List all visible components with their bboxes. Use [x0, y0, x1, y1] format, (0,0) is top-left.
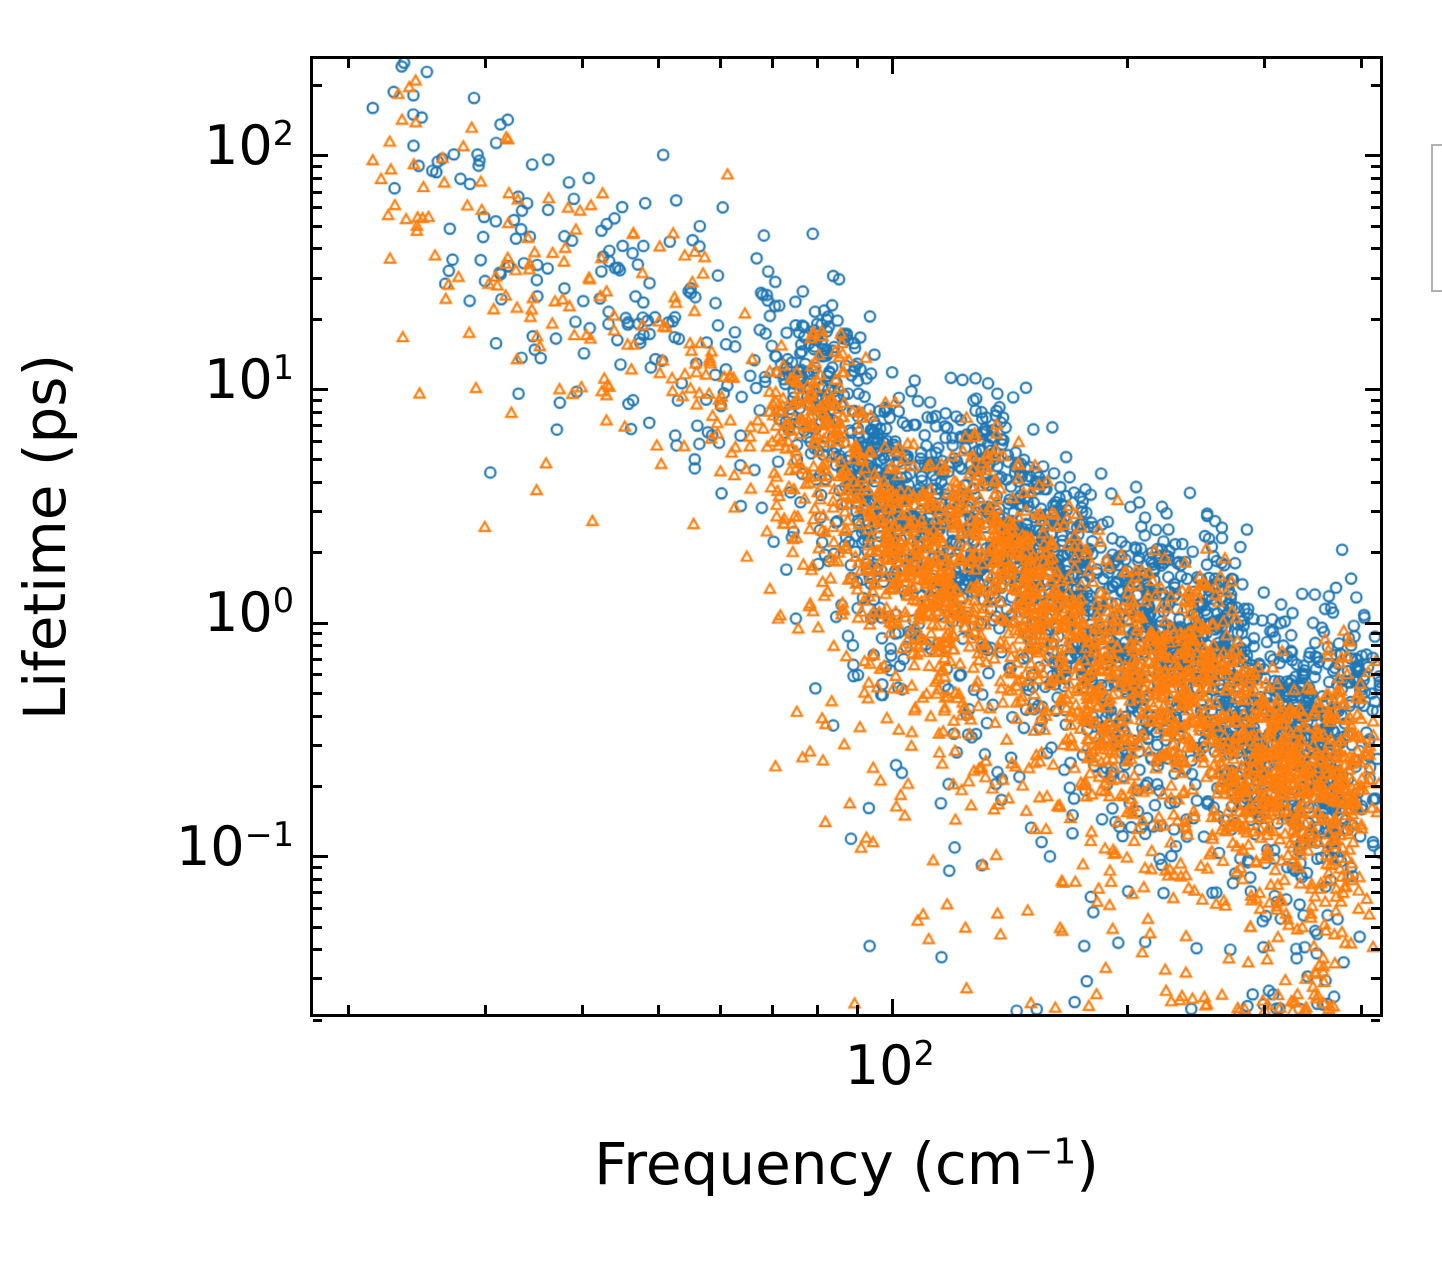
x-tick-top-50 [657, 59, 660, 68]
y-tick-right-0.2 [1371, 785, 1380, 788]
x-tick-top-70 [771, 59, 774, 68]
scatter-plot-canvas [313, 59, 1380, 1014]
x-tick-400 [1360, 1005, 1363, 1014]
y-tick-0.07 [313, 891, 322, 894]
y-tick-right-0.05 [1371, 926, 1380, 929]
x-tick-top-90 [856, 59, 859, 68]
y-tick-80 [313, 177, 322, 180]
x-tick-60 [719, 1005, 722, 1014]
y-tick-8 [313, 411, 322, 414]
plot-axes: 300K 500K [310, 56, 1383, 1017]
y-tick-right-0.6000000000000001 [1371, 673, 1380, 676]
y-tick-0.09 [313, 866, 322, 869]
y-tick-right-1 [1365, 622, 1380, 625]
x-tick-300 [1263, 1005, 1266, 1014]
x-tick-top-60 [719, 59, 722, 68]
y-tick-0.4 [313, 715, 322, 718]
x-tick-100 [891, 999, 894, 1014]
y-tick-label-1: 100 [204, 586, 294, 640]
y-tick-right-20 [1371, 318, 1380, 321]
figure: Lifetime (ps) 10−1100101102 300K [0, 0, 1442, 1265]
y-tick-9 [313, 399, 322, 402]
y-axis-label: Lifetime (ps) [11, 353, 79, 719]
triangle-open-icon [1433, 239, 1442, 269]
y-tick-right-6 [1371, 440, 1380, 443]
y-tick-right-200 [1371, 84, 1380, 87]
legend[interactable]: 300K 500K [1431, 144, 1442, 292]
x-tick-top-400 [1360, 59, 1363, 68]
y-tick-right-30 [1371, 277, 1380, 280]
y-tick-right-0.7000000000000001 [1371, 658, 1380, 661]
y-tick-right-10 [1365, 388, 1380, 391]
y-tick-right-9 [1371, 399, 1380, 402]
y-tick-0.6000000000000001 [313, 673, 322, 676]
y-tick-2 [313, 551, 322, 554]
x-tick-90 [856, 1005, 859, 1014]
x-tick-top-200 [1126, 59, 1129, 68]
y-tick-right-0.04 [1371, 948, 1380, 951]
legend-item-500k[interactable]: 500K [1433, 220, 1442, 288]
y-tick-right-0.09 [1371, 866, 1380, 869]
y-tick-40 [313, 247, 322, 250]
y-tick-0.7000000000000001 [313, 658, 322, 661]
y-tick-right-0.4 [1371, 715, 1380, 718]
x-tick-label-100: 102 [845, 1039, 935, 1093]
y-tick-right-7 [1371, 424, 1380, 427]
y-tick-label-0.1: 10−1 [176, 820, 294, 874]
x-tick-top-100 [891, 59, 894, 74]
y-tick-0.05 [313, 926, 322, 929]
y-tick-right-5 [1371, 458, 1380, 461]
y-tick-0.9 [313, 632, 322, 635]
x-tick-top-80 [816, 59, 819, 68]
y-tick-right-4 [1371, 481, 1380, 484]
y-tick-right-80 [1371, 177, 1380, 180]
y-tick-3 [313, 510, 322, 513]
x-tick-200 [1126, 1005, 1129, 1014]
y-tick-1 [313, 622, 328, 625]
y-tick-20 [313, 318, 322, 321]
y-tick-right-0.9 [1371, 632, 1380, 635]
x-axis-label: Frequency (cm−1) [310, 1130, 1383, 1198]
y-tick-70 [313, 191, 322, 194]
y-tick-200 [313, 84, 322, 87]
y-tick-right-0.06 [1371, 907, 1380, 910]
y-tick-0.1 [313, 855, 328, 858]
y-tick-right-60 [1371, 206, 1380, 209]
y-tick-0.02 [313, 1019, 322, 1022]
x-tick-30 [484, 1005, 487, 1014]
y-tick-0.30000000000000004 [313, 744, 322, 747]
x-tick-20 [347, 1005, 350, 1014]
y-tick-right-0.07 [1371, 891, 1380, 894]
y-tick-right-0.1 [1365, 855, 1380, 858]
y-tick-right-0.02 [1371, 1019, 1380, 1022]
y-tick-0.03 [313, 977, 322, 980]
y-tick-right-0.5 [1371, 692, 1380, 695]
y-tick-right-40 [1371, 247, 1380, 250]
x-tick-top-20 [347, 59, 350, 68]
y-tick-0.04 [313, 948, 322, 951]
y-tick-right-50 [1371, 225, 1380, 228]
y-tick-right-100 [1365, 154, 1380, 157]
y-tick-6 [313, 440, 322, 443]
y-tick-5 [313, 458, 322, 461]
y-tick-0.06 [313, 907, 322, 910]
y-tick-0.5 [313, 692, 322, 695]
circle-open-icon [1433, 171, 1442, 201]
y-tick-right-2 [1371, 551, 1380, 554]
y-axis-label-container: Lifetime (ps) [0, 56, 90, 1017]
x-tick-70 [771, 1005, 774, 1014]
legend-item-300k[interactable]: 300K [1433, 152, 1442, 220]
x-tick-top-300 [1263, 59, 1266, 68]
y-tick-4 [313, 481, 322, 484]
y-tick-right-70 [1371, 191, 1380, 194]
y-tick-right-3 [1371, 510, 1380, 513]
y-tick-right-0.30000000000000004 [1371, 744, 1380, 747]
y-tick-10 [313, 388, 328, 391]
y-tick-right-90 [1371, 165, 1380, 168]
y-tick-7 [313, 424, 322, 427]
y-tick-right-0.8 [1371, 644, 1380, 647]
y-tick-right-0.03 [1371, 977, 1380, 980]
x-tick-top-40 [581, 59, 584, 68]
y-tick-60 [313, 206, 322, 209]
y-tick-100 [313, 154, 328, 157]
y-tick-right-0.08 [1371, 878, 1380, 881]
x-tick-top-30 [484, 59, 487, 68]
y-tick-30 [313, 277, 322, 280]
y-tick-90 [313, 165, 322, 168]
x-tick-40 [581, 1005, 584, 1014]
y-tick-0.8 [313, 644, 322, 647]
y-tick-label-10: 101 [204, 353, 294, 407]
x-tick-50 [657, 1005, 660, 1014]
y-tick-label-100: 102 [204, 119, 294, 173]
y-tick-0.2 [313, 785, 322, 788]
y-tick-right-8 [1371, 411, 1380, 414]
y-tick-50 [313, 225, 322, 228]
x-tick-80 [816, 1005, 819, 1014]
y-tick-0.08 [313, 878, 322, 881]
